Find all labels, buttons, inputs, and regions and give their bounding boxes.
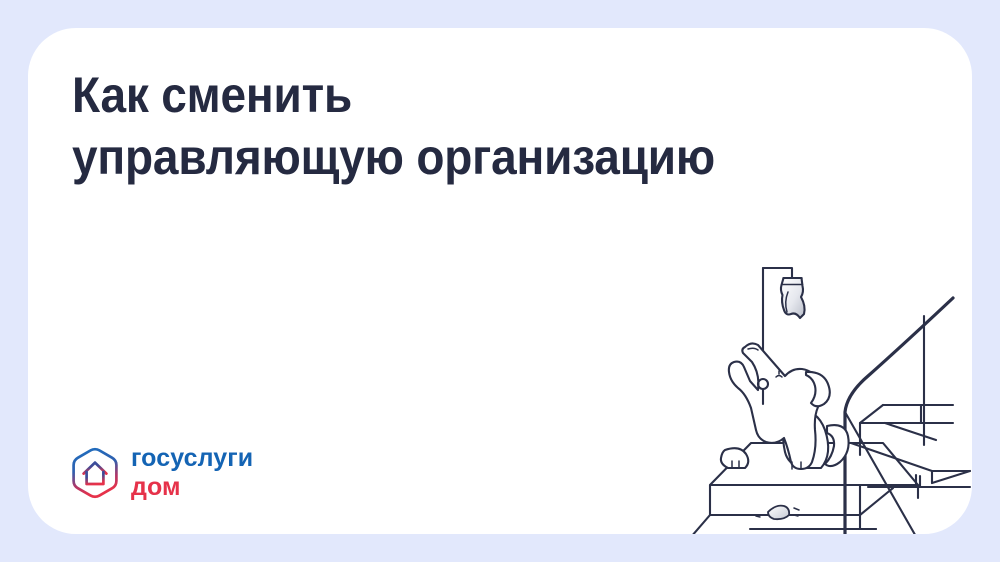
illustration-dog-broken-lightbulb bbox=[688, 240, 972, 534]
brand-logo: госуслуги дом bbox=[70, 446, 253, 500]
broken-light-bulb-icon bbox=[781, 278, 805, 318]
slide-root: Как сменить управляющую организацию bbox=[0, 0, 1000, 562]
logo-word-gosuslugi: госуслуги bbox=[131, 446, 253, 471]
illustration-svg bbox=[688, 240, 972, 534]
handrail bbox=[845, 298, 953, 534]
page-title: Как сменить управляющую организацию bbox=[72, 64, 812, 188]
white-card: Как сменить управляющую организацию bbox=[28, 28, 972, 534]
logo-wordmark: госуслуги дом bbox=[131, 446, 253, 500]
title-line-1: Как сменить bbox=[72, 64, 753, 126]
title-line-2: управляющую организацию bbox=[72, 126, 753, 188]
house-hexagon-logo-icon bbox=[70, 446, 120, 500]
logo-word-dom: дом bbox=[131, 475, 253, 500]
dog-figure bbox=[721, 343, 849, 469]
broken-glass-shards bbox=[756, 506, 799, 520]
